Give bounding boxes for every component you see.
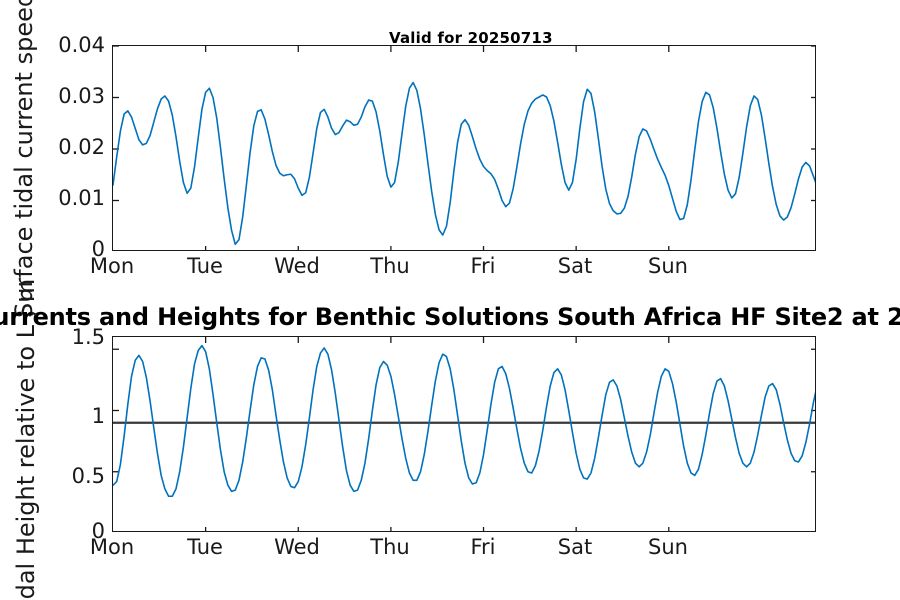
y-tick-label-top: 0.04 — [35, 33, 105, 57]
y-tick-label-top: 0.02 — [35, 135, 105, 159]
x-tick-label-bottom: Tue — [170, 535, 240, 559]
figure-canvas: Valid for 20250713 Surface tidal current… — [0, 0, 900, 600]
page-title: Currents and Heights for Benthic Solutio… — [0, 303, 900, 331]
bottom-plot-svg — [113, 337, 816, 532]
y-tick-label-top: 0.01 — [35, 186, 105, 210]
x-tick-label-bottom: Wed — [262, 535, 332, 559]
x-tick-label-top: Tue — [170, 254, 240, 278]
x-tick-label-bottom: Thu — [355, 535, 425, 559]
x-tick-label-top: Sun — [633, 254, 703, 278]
x-tick-label-bottom: Mon — [77, 535, 147, 559]
y-axis-label-top: Surface tidal current speed, kn — [10, 0, 38, 318]
top-plot-svg — [113, 46, 816, 251]
y-tick-label-top: 0.03 — [35, 84, 105, 108]
current-speed-line — [113, 83, 816, 245]
x-tick-label-top: Fri — [448, 254, 518, 278]
top-ticks — [113, 46, 816, 251]
tidal-height-line — [113, 346, 816, 497]
y-tick-label-bottom: 1 — [35, 404, 105, 428]
x-tick-label-bottom: Sun — [633, 535, 703, 559]
x-tick-label-top: Mon — [77, 254, 147, 278]
y-tick-label-bottom: 0.5 — [35, 464, 105, 488]
x-tick-label-top: Wed — [262, 254, 332, 278]
top-plot-axes — [112, 45, 816, 251]
x-tick-label-top: Thu — [355, 254, 425, 278]
bottom-plot-axes — [112, 336, 816, 532]
x-tick-label-bottom: Sat — [540, 535, 610, 559]
y-tick-label-bottom: 1.5 — [35, 325, 105, 349]
x-tick-label-bottom: Fri — [448, 535, 518, 559]
x-tick-label-top: Sat — [540, 254, 610, 278]
